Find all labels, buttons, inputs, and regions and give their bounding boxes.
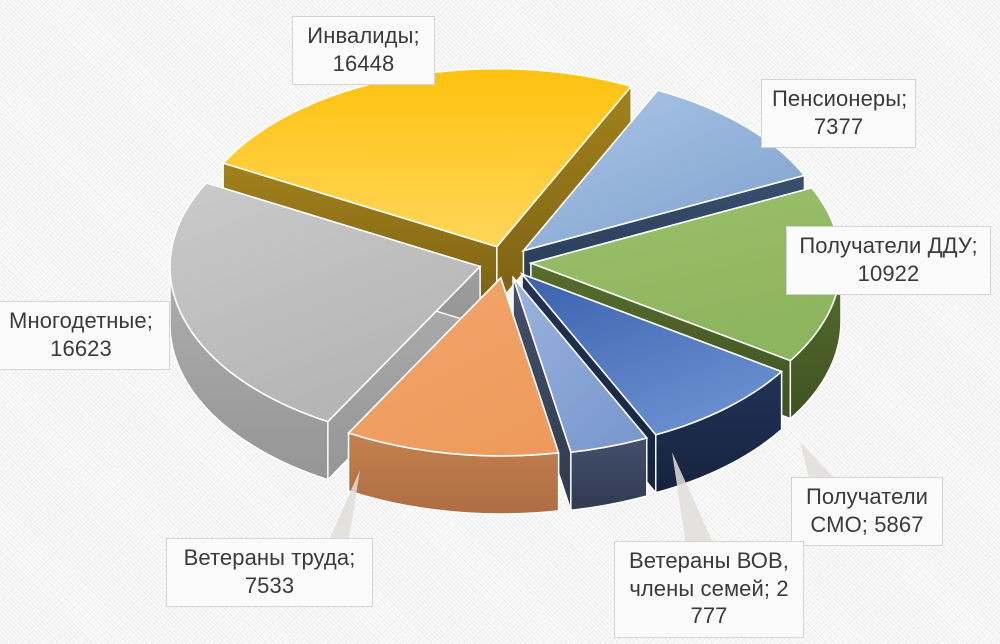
slice-label-smo: Получатели СМО; 5867 (791, 477, 943, 546)
slice-label-vov: Ветераны ВОВ, члены семей; 2 777 (614, 541, 804, 638)
slice-label-veterany-truda: Ветераны труда; 7533 (166, 538, 373, 607)
chart-canvas: Инвалиды; 16448 Пенсионеры; 7377 Получат… (0, 0, 1000, 644)
slice-label-ddu: Получатели ДДУ; 10922 (786, 226, 991, 295)
slice-label-invalidy: Инвалиды; 16448 (292, 16, 435, 85)
slice-label-mnogodetnye: Многодетные; 16623 (0, 301, 170, 370)
slice-label-pensionery: Пенсионеры; 7377 (761, 79, 916, 148)
leader-line (800, 442, 838, 482)
